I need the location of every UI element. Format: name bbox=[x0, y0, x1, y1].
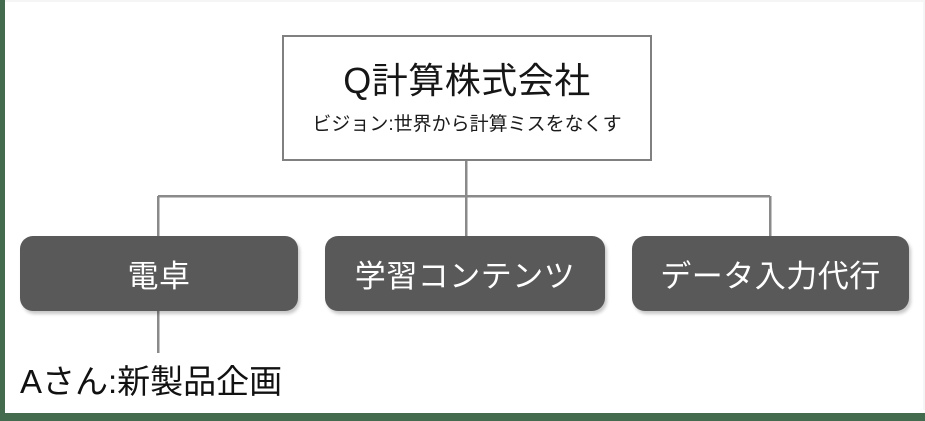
node-child-label: 学習コンテンツ bbox=[355, 251, 576, 296]
node-child-label: 電卓 bbox=[128, 251, 191, 296]
node-root-subtitle: ビジョン:世界から計算ミスをなくす bbox=[312, 114, 621, 137]
node-child-learning-content[interactable]: 学習コンテンツ bbox=[325, 236, 605, 311]
node-child-label: データ入力代行 bbox=[660, 251, 881, 296]
node-child-denshi[interactable]: 電卓 bbox=[20, 236, 298, 311]
left-edge-strip bbox=[0, 0, 5, 421]
bottom-edge-inner-gap bbox=[5, 410, 925, 413]
node-leaf-label[interactable]: Aさん:新製品企画 bbox=[20, 355, 282, 403]
node-root-title: Q計算株式会社 bbox=[343, 61, 591, 101]
diagram-canvas: Q計算株式会社 ビジョン:世界から計算ミスをなくす 電卓 学習コンテンツ データ… bbox=[0, 0, 925, 421]
node-child-data-entry[interactable]: データ入力代行 bbox=[632, 236, 909, 311]
node-root[interactable]: Q計算株式会社 ビジョン:世界から計算ミスをなくす bbox=[282, 35, 652, 161]
